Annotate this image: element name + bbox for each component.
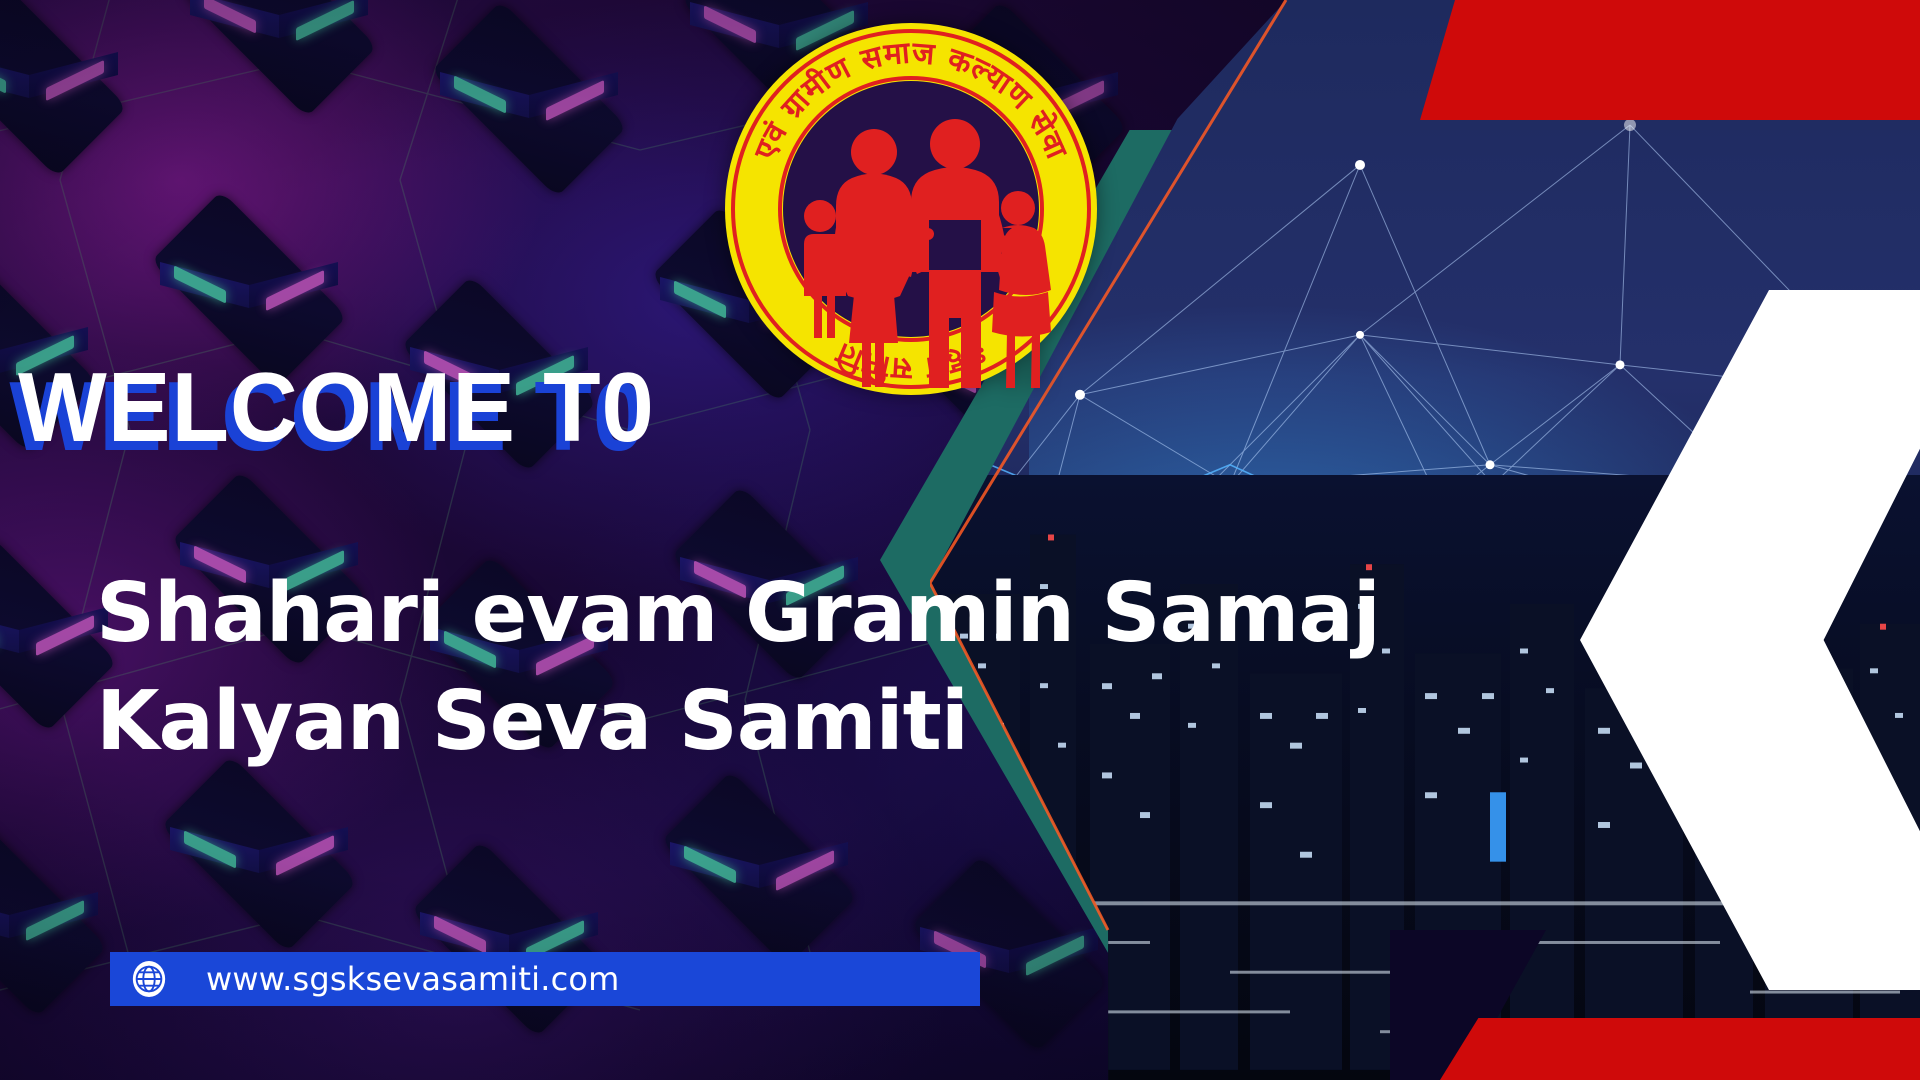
org-name-line-2: Kalyan Seva Samiti: [96, 668, 1276, 776]
website-url-text: www.sgsksevasamiti.com: [206, 960, 620, 998]
page-title: Shahari evam Gramin Samaj Kalyan Seva Sa…: [96, 560, 1276, 776]
website-url-bar[interactable]: www.sgsksevasamiti.com: [110, 952, 980, 1006]
globe-icon: [130, 960, 168, 998]
welcome-heading: WELCOME T0: [18, 358, 655, 456]
organization-seal-icon: एवं ग्रामीण समाज कल्याण सेवा शहरी समिति: [722, 20, 1100, 398]
red-bottom-banner-shape: [1440, 1018, 1920, 1080]
org-name-line-1: Shahari evam Gramin Samaj: [96, 566, 1380, 661]
red-top-banner-shape: [1420, 0, 1920, 120]
banner-canvas: एवं ग्रामीण समाज कल्याण सेवा शहरी समिति: [0, 0, 1920, 1080]
